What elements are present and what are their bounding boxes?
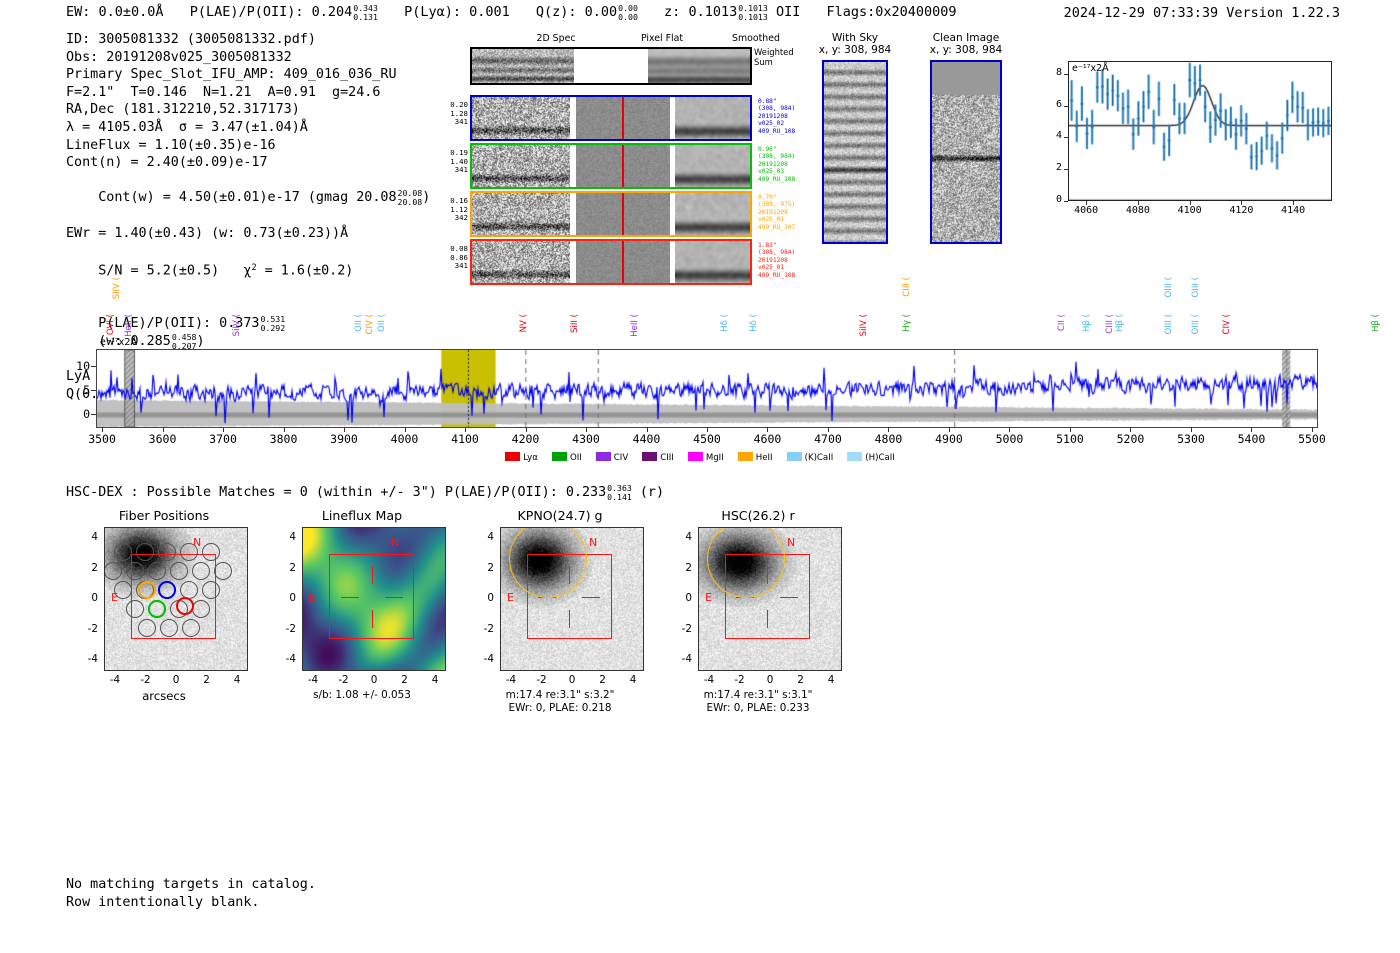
emission-line-label: Hδ ( bbox=[720, 314, 730, 332]
spec2d-metadata-value: 0.96" bbox=[758, 146, 818, 153]
lineflux-map-xtick: -2 bbox=[331, 674, 357, 686]
spec2d-smoothed bbox=[675, 241, 750, 283]
hsc-r-cutout-title: HSC(26.2) r bbox=[660, 508, 856, 523]
with-sky-pixels bbox=[824, 62, 886, 242]
fit-xtick: 4120 bbox=[1221, 205, 1261, 216]
header-plae: P(LAE)/P(OII): 0.2040.3430.131 bbox=[190, 4, 386, 20]
spectrum-xtick-mark bbox=[767, 427, 768, 432]
legend-swatch bbox=[642, 452, 657, 461]
spectrum-xtick-mark bbox=[344, 427, 345, 432]
fit-xtick-mark bbox=[1241, 201, 1242, 205]
lineflux-map-xtick: -4 bbox=[300, 674, 326, 686]
fiber-positions-ytick: -2 bbox=[74, 623, 98, 635]
pixel-flat bbox=[576, 241, 670, 283]
fiber-circle bbox=[180, 543, 198, 561]
legend-label: CIII bbox=[660, 453, 674, 463]
fit-xtick-mark bbox=[1138, 201, 1139, 205]
fit-ytick: 4 bbox=[1038, 130, 1062, 141]
info-cont-n: Cont(n) = 2.40(±0.09)e-17 bbox=[66, 154, 430, 172]
legend-swatch bbox=[505, 452, 520, 461]
emission-line-label: HeII ( bbox=[124, 314, 134, 337]
bottom-note: No matching targets in catalog. Row inte… bbox=[66, 876, 316, 911]
info-id: ID: 3005081332 (3005081332.pdf) bbox=[66, 31, 430, 49]
spec2d-row-metadata: 0.96"(308, 984)20191208v025_03409_RU_108 bbox=[758, 146, 818, 183]
east-marker: E bbox=[309, 591, 316, 604]
hsc-r-cutout-caption-2: EWr: 0, PLAE: 0.233 bbox=[660, 702, 856, 715]
legend-swatch bbox=[552, 452, 567, 461]
pixel-flat-marker-line bbox=[622, 193, 624, 235]
fit-ytick-mark bbox=[1064, 169, 1068, 170]
spectrum-xtick: 5000 bbox=[987, 432, 1031, 446]
legend-swatch bbox=[738, 452, 753, 461]
spectrum-ytick: 0 bbox=[64, 407, 90, 421]
crosshair-segment bbox=[372, 566, 373, 584]
fiber-positions-ytick: 4 bbox=[74, 531, 98, 543]
spec2d-raw bbox=[472, 145, 570, 187]
image-data bbox=[472, 241, 570, 283]
fit-xtick: 4060 bbox=[1066, 205, 1106, 216]
spectrum-xtick-mark bbox=[223, 427, 224, 432]
spec2d-stat-value: 341 bbox=[438, 262, 468, 271]
fiber-positions-ytick: 0 bbox=[74, 592, 98, 604]
spectrum-xtick-mark bbox=[1312, 427, 1313, 432]
header-redshift: z: 0.10130.10130.1013 OII bbox=[664, 4, 808, 20]
kpno-g-cutout-ytick: 0 bbox=[470, 592, 494, 604]
lineflux-map-caption-1: s/b: 1.08 +/- 0.053 bbox=[264, 689, 460, 702]
emission-line-label: OIII ( bbox=[1164, 314, 1174, 334]
emission-line-label: SiIV ( bbox=[112, 277, 122, 299]
image-data bbox=[648, 49, 750, 83]
lineflux-map-ytick: 2 bbox=[272, 562, 296, 574]
spec2d-metadata-value: v025_02 bbox=[758, 120, 818, 127]
fiber-positions-xlabel: arcsecs bbox=[66, 689, 262, 703]
emission-line-label: Hβ ( bbox=[1115, 314, 1125, 332]
emission-line-label: Hβ ( bbox=[1371, 314, 1381, 332]
with-sky-title: With Sky x, y: 308, 984 bbox=[800, 32, 910, 57]
lineflux-map-title: Lineflux Map bbox=[264, 508, 460, 523]
legend-label: CIV bbox=[614, 453, 628, 463]
pixel-flat-marker-line bbox=[622, 97, 624, 139]
header-flags: Flags:0x20400009 bbox=[826, 4, 956, 20]
fiber-positions-xtick: 4 bbox=[224, 674, 250, 686]
spec2d-metadata-value: 409_RU_108 bbox=[758, 128, 818, 135]
fiber-positions-xtick: 2 bbox=[194, 674, 220, 686]
image-data bbox=[472, 145, 570, 187]
spec2d-metadata-value: 20191208 bbox=[758, 113, 818, 120]
fiber-circle bbox=[126, 600, 144, 618]
fiber-positions-xtick: -2 bbox=[133, 674, 159, 686]
fiber-circle bbox=[170, 562, 188, 580]
hsc-r-cutout-xtick: 4 bbox=[818, 674, 844, 686]
timestamp-version: 2024-12-29 07:33:39 Version 1.22.3 bbox=[1064, 5, 1340, 21]
legend-item: OII bbox=[552, 452, 582, 463]
spectrum-xtick-mark bbox=[102, 427, 103, 432]
spectrum-xtick: 4200 bbox=[504, 432, 548, 446]
spectrum-xtick: 4400 bbox=[625, 432, 669, 446]
spectrum-xtick: 5300 bbox=[1169, 432, 1213, 446]
fit-ytick: 0 bbox=[1038, 194, 1062, 205]
legend-swatch bbox=[688, 452, 703, 461]
fit-ytick-mark bbox=[1064, 106, 1068, 107]
spectrum-xtick-mark bbox=[405, 427, 406, 432]
lineflux-map-panel: Lineflux MapNE420-2-4-4-2024s/b: 1.08 +/… bbox=[264, 508, 460, 738]
fiber-circle bbox=[192, 600, 210, 618]
fiber-positions-xtick: 0 bbox=[163, 674, 189, 686]
spec2d-stat-value: 341 bbox=[438, 166, 468, 175]
spec2d-smoothed bbox=[675, 97, 750, 139]
legend-label: OII bbox=[570, 453, 582, 463]
fit-plot-canvas bbox=[1069, 62, 1331, 200]
spec2d-row-stats: 0.080.86341 bbox=[438, 245, 468, 271]
spectrum-xtick: 4300 bbox=[564, 432, 608, 446]
spectrum-xtick: 4000 bbox=[383, 432, 427, 446]
legend-swatch bbox=[847, 452, 862, 461]
weighted-sum-2dspec bbox=[472, 49, 574, 83]
fit-ytick: 6 bbox=[1038, 99, 1062, 110]
fiber-circle bbox=[192, 562, 210, 580]
kpno-g-cutout-xtick: -2 bbox=[529, 674, 555, 686]
kpno-g-cutout-ytick: -4 bbox=[470, 653, 494, 665]
kpno-g-cutout-ytick: 4 bbox=[470, 531, 494, 543]
spectrum-ytick-mark bbox=[91, 390, 96, 391]
lineflux-map-xtick: 0 bbox=[361, 674, 387, 686]
legend-label: (H)CaII bbox=[865, 453, 895, 463]
fit-xtick-mark bbox=[1086, 201, 1087, 205]
info-wavelength: λ = 4105.03Å σ = 3.47(±1.04)Å bbox=[66, 119, 430, 137]
spec2d-row-metadata: 0.88"(308, 984)20191208v025_02409_RU_108 bbox=[758, 98, 818, 135]
image-data bbox=[675, 97, 750, 139]
spec2d-metadata-value: 20191208 bbox=[758, 161, 818, 168]
fit-xtick: 4100 bbox=[1170, 205, 1210, 216]
lineflux-map-ytick: 4 bbox=[272, 531, 296, 543]
bottom-note-line1: No matching targets in catalog. bbox=[66, 876, 316, 894]
kpno-g-cutout-xtick: -4 bbox=[498, 674, 524, 686]
legend-item: (K)CaII bbox=[787, 452, 834, 463]
pixel-flat-marker-line bbox=[622, 241, 624, 283]
crosshair-segment bbox=[780, 597, 798, 598]
pixel-flat bbox=[576, 97, 670, 139]
with-sky-image bbox=[822, 60, 888, 244]
legend-swatch bbox=[596, 452, 611, 461]
info-lineflux: LineFlux = 1.10(±0.35)e-16 bbox=[66, 137, 430, 155]
image-data bbox=[472, 193, 570, 235]
clean-image-pixels bbox=[932, 62, 1000, 242]
spec2d-raw bbox=[472, 241, 570, 283]
spectrum-ytick: 10 bbox=[64, 359, 90, 373]
spectrum-xtick: 5500 bbox=[1290, 432, 1334, 446]
fit-ytick: 2 bbox=[1038, 162, 1062, 173]
kpno-g-cutout-title: KPNO(24.7) g bbox=[462, 508, 658, 523]
fiber-positions-xtick: -4 bbox=[102, 674, 128, 686]
hsc-r-cutout-ytick: -4 bbox=[668, 653, 692, 665]
spec2d-metadata-value: 0.88" bbox=[758, 98, 818, 105]
hsc-r-cutout-caption-1: m:17.4 re:3.1" s:3.1" bbox=[660, 689, 856, 702]
spectrum-xtick: 4500 bbox=[685, 432, 729, 446]
fiber-circle bbox=[114, 581, 132, 599]
spec2d-metadata-value: (308, 984) bbox=[758, 249, 818, 256]
legend-label: MgII bbox=[706, 453, 724, 463]
spectrum-xtick: 3900 bbox=[322, 432, 366, 446]
full-spectrum-plot bbox=[96, 349, 1318, 428]
hsc-dex-summary: HSC-DEX : Possible Matches = 0 (within +… bbox=[66, 484, 664, 501]
weighted-sum-strip bbox=[470, 47, 752, 85]
spectrum-xtick-mark bbox=[465, 427, 466, 432]
fiber-circle bbox=[104, 562, 122, 580]
kpno-g-cutout-ytick: 2 bbox=[470, 562, 494, 574]
hsc-r-cutout-xtick: 0 bbox=[757, 674, 783, 686]
spectrum-xtick-mark bbox=[949, 427, 950, 432]
image-data bbox=[675, 193, 750, 235]
spec2d-row: 0.201.283410.88"(308, 984)20191208v025_0… bbox=[470, 95, 752, 141]
fiber-positions-ytick: 2 bbox=[74, 562, 98, 574]
fiber-circle-selected bbox=[138, 581, 156, 599]
spectrum-xtick-mark bbox=[526, 427, 527, 432]
crosshair-segment bbox=[767, 610, 768, 628]
fiber-circle bbox=[126, 562, 144, 580]
hsc-r-cutout-xtick: 2 bbox=[788, 674, 814, 686]
weighted-sum-label: Weighted Sum bbox=[754, 47, 794, 67]
spec2d-raw bbox=[472, 193, 570, 235]
emission-line-label: CIV ( bbox=[365, 314, 375, 335]
emission-line-label: Hγ ( bbox=[902, 314, 912, 332]
kpno-g-cutout-caption-2: EWr: 0, PLAE: 0.218 bbox=[462, 702, 658, 715]
legend-item: CIV bbox=[596, 452, 628, 463]
spectrum-xtick-mark bbox=[1191, 427, 1192, 432]
fit-ytick: 8 bbox=[1038, 67, 1062, 78]
spectrum-xtick: 4800 bbox=[866, 432, 910, 446]
legend-swatch bbox=[787, 452, 802, 461]
fiber-circle bbox=[202, 581, 220, 599]
spec2d-metadata-value: (308, 975) bbox=[758, 201, 818, 208]
emission-line-label: OII ( bbox=[354, 314, 364, 332]
fiber-positions-image: NE bbox=[104, 527, 248, 671]
fit-ytick-mark bbox=[1064, 201, 1068, 202]
header-ew: EW: 0.0±0.0Å bbox=[66, 4, 164, 20]
spectrum-xtick: 3500 bbox=[80, 432, 124, 446]
info-cont-w: Cont(w) = 4.50(±0.01)e-17 (gmag 20.0820.… bbox=[66, 172, 430, 225]
spectrum-legend: LyαOIICIVCIIIMgIIHeII(K)CaII(H)CaII bbox=[0, 452, 1400, 463]
spectrum-xtick-mark bbox=[1251, 427, 1252, 432]
spectrum-ytick-mark bbox=[91, 366, 96, 367]
spectrum-xtick: 5200 bbox=[1108, 432, 1152, 446]
fiber-circle bbox=[148, 562, 166, 580]
spectrum-xtick: 4600 bbox=[745, 432, 789, 446]
emission-line-label: CIII ( bbox=[1105, 314, 1115, 334]
spectrum-xtick: 4900 bbox=[927, 432, 971, 446]
north-marker: N bbox=[391, 536, 399, 549]
fiber-circle bbox=[160, 619, 178, 637]
spectrum-xtick: 5400 bbox=[1229, 432, 1273, 446]
lineflux-map-xtick: 4 bbox=[422, 674, 448, 686]
weighted-sum-smoothed bbox=[648, 49, 750, 83]
kpno-g-cutout-xtick: 0 bbox=[559, 674, 585, 686]
kpno-g-cutout-caption-1: m:17.4 re:3.1" s:3.2" bbox=[462, 689, 658, 702]
emission-line-label: CIV ( bbox=[1222, 314, 1232, 335]
image-data bbox=[472, 49, 574, 83]
hsc-r-cutout-image: NE bbox=[698, 527, 842, 671]
spec2d-stat-value: 341 bbox=[438, 118, 468, 127]
fiber-circle-selected bbox=[158, 581, 176, 599]
spectrum-xtick: 4100 bbox=[443, 432, 487, 446]
fit-xtick: 4080 bbox=[1118, 205, 1158, 216]
fit-ytick-mark bbox=[1064, 137, 1068, 138]
spec2d-metadata-value: 0.70" bbox=[758, 194, 818, 201]
north-marker: N bbox=[787, 536, 795, 549]
info-ewr: EWr = 1.40(±0.43) (w: 0.73(±0.23))Å bbox=[66, 225, 430, 243]
pixel-flat-marker-line bbox=[622, 145, 624, 187]
emission-line-label: SiIV ( bbox=[232, 314, 242, 336]
info-obs: Obs: 20191208v025_3005081332 bbox=[66, 49, 430, 67]
spectrum-xtick: 3600 bbox=[141, 432, 185, 446]
spec2d-smoothed bbox=[675, 145, 750, 187]
fiber-circle bbox=[138, 619, 156, 637]
kpno-g-cutout-xtick: 4 bbox=[620, 674, 646, 686]
spec2d-metadata-value: (308, 984) bbox=[758, 153, 818, 160]
spectrum-xtick-mark bbox=[163, 427, 164, 432]
image-data bbox=[472, 97, 570, 139]
hsc-r-cutout-ytick: -2 bbox=[668, 623, 692, 635]
fiber-positions-ytick: -4 bbox=[74, 653, 98, 665]
spec2d-row-stats: 0.191.40341 bbox=[438, 149, 468, 175]
kpno-g-cutout-image: NE bbox=[500, 527, 644, 671]
header-summary-line: EW: 0.0±0.0Å P(LAE)/P(OII): 0.2040.3430.… bbox=[66, 4, 975, 21]
emission-line-label: Hδ ( bbox=[749, 314, 759, 332]
crosshair-segment bbox=[569, 610, 570, 628]
bottom-note-line2: Row intentionally blank. bbox=[66, 894, 316, 912]
spec2d-smoothed bbox=[675, 193, 750, 235]
lineflux-map-xtick: 2 bbox=[392, 674, 418, 686]
fiber-circle bbox=[202, 543, 220, 561]
fit-xtick: 4140 bbox=[1273, 205, 1313, 216]
header-plya: P(Lyα): 0.001 bbox=[404, 4, 510, 20]
spectrum-ytick: 5 bbox=[64, 383, 90, 397]
lineflux-map-ytick: 0 bbox=[272, 592, 296, 604]
spec2d-metadata-value: 409_RU_108 bbox=[758, 272, 818, 279]
spectrum-xtick-mark bbox=[1009, 427, 1010, 432]
emission-line-label: HeII ( bbox=[630, 314, 640, 337]
spectrum-ylabel: e⁻¹⁷x2Å bbox=[100, 337, 137, 348]
fit-xtick-mark bbox=[1293, 201, 1294, 205]
emission-line-label: CIII ( bbox=[902, 277, 912, 297]
kpno-g-cutout-panel: KPNO(24.7) gNE420-2-4-4-2024m:17.4 re:3.… bbox=[462, 508, 658, 738]
emission-line-label: OIII ( bbox=[1191, 277, 1201, 297]
kpno-g-cutout-xtick: 2 bbox=[590, 674, 616, 686]
fiber-circle bbox=[182, 619, 200, 637]
spectrum-xtick: 3700 bbox=[201, 432, 245, 446]
image-data bbox=[675, 145, 750, 187]
emission-line-label: OIII ( bbox=[1191, 314, 1201, 334]
spectrum-xtick: 4700 bbox=[806, 432, 850, 446]
legend-label: (K)CaII bbox=[805, 453, 834, 463]
kpno-g-cutout-ytick: -2 bbox=[470, 623, 494, 635]
header-qz: Q(z): 0.000.000.00 bbox=[536, 4, 646, 20]
clean-image-image bbox=[930, 60, 1002, 244]
col-head-smoothed: Smoothed bbox=[696, 33, 816, 44]
spectrum-canvas bbox=[97, 350, 1317, 427]
legend-item: MgII bbox=[688, 452, 724, 463]
pixel-flat bbox=[576, 193, 670, 235]
legend-label: Lyα bbox=[523, 453, 538, 463]
emission-line-label: NV ( bbox=[519, 314, 529, 332]
legend-item: HeII bbox=[738, 452, 773, 463]
crosshair-segment bbox=[341, 597, 359, 598]
spec2d-row-stats: 0.161.12342 bbox=[438, 197, 468, 223]
emission-line-label: Hβ ( bbox=[1082, 314, 1092, 332]
fit-plot-axes bbox=[1068, 61, 1332, 201]
spec2d-row-metadata: 0.70"(308, 975)20191208v025_01409_RU_107 bbox=[758, 194, 818, 231]
spec2d-stat-value: 342 bbox=[438, 214, 468, 223]
fit-xtick-mark bbox=[1190, 201, 1191, 205]
hsc-r-cutout-ytick: 2 bbox=[668, 562, 692, 574]
fiber-circle bbox=[158, 543, 176, 561]
hsc-r-cutout-ytick: 4 bbox=[668, 531, 692, 543]
spec2d-row: 0.191.403410.96"(308, 984)20191208v025_0… bbox=[470, 143, 752, 189]
spectrum-xtick-mark bbox=[888, 427, 889, 432]
spec2d-metadata-value: 409_RU_108 bbox=[758, 176, 818, 183]
clean-image-title: Clean Image x, y: 308, 984 bbox=[906, 32, 1026, 57]
spec2d-metadata-value: 1.83" bbox=[758, 242, 818, 249]
fiber-positions-title: Fiber Positions bbox=[66, 508, 262, 523]
crosshair-segment bbox=[372, 610, 373, 628]
spec2d-metadata-value: v025_03 bbox=[758, 168, 818, 175]
emission-line-label: SiII ( bbox=[570, 314, 580, 333]
spectrum-xtick-mark bbox=[1130, 427, 1131, 432]
lineflux-map-ytick: -2 bbox=[272, 623, 296, 635]
info-radec: RA,Dec (181.312210,52.317173) bbox=[66, 101, 430, 119]
spec2d-row: 0.080.863411.83"(308, 984)20191208v025_0… bbox=[470, 239, 752, 285]
crosshair-segment bbox=[385, 597, 403, 598]
fiber-circle-selected bbox=[176, 597, 194, 615]
spectrum-xtick: 5100 bbox=[1048, 432, 1092, 446]
spectrum-ytick-mark bbox=[91, 414, 96, 415]
fit-plot-ylabel: e⁻¹⁷x2Å bbox=[1072, 63, 1109, 74]
fiber-circle bbox=[136, 543, 154, 561]
fiber-circle bbox=[114, 543, 132, 561]
legend-item: Lyα bbox=[505, 452, 538, 463]
spectrum-xtick: 3800 bbox=[262, 432, 306, 446]
east-marker: E bbox=[507, 591, 514, 604]
spec2d-raw bbox=[472, 97, 570, 139]
spec2d-row-stats: 0.201.28341 bbox=[438, 101, 468, 127]
emission-line-fit-plot: e⁻¹⁷x2Å 02468 40604080410041204140 bbox=[1038, 55, 1334, 230]
hsc-r-cutout-xtick: -4 bbox=[696, 674, 722, 686]
spec2d-row: 0.161.123420.70"(308, 975)20191208v025_0… bbox=[470, 191, 752, 237]
hsc-r-cutout-panel: HSC(26.2) rNE420-2-4-4-2024m:17.4 re:3.1… bbox=[660, 508, 856, 738]
col-head-2d-spec: 2D Spec bbox=[496, 33, 616, 44]
fiber-circle-selected bbox=[148, 600, 166, 618]
hsc-r-cutout-xtick: -2 bbox=[727, 674, 753, 686]
spectrum-xtick-mark bbox=[647, 427, 648, 432]
legend-item: (H)CaII bbox=[847, 452, 895, 463]
emission-line-label: CII ( bbox=[1057, 314, 1067, 331]
emission-line-label: OVI ( bbox=[106, 314, 116, 335]
crosshair-segment bbox=[582, 597, 600, 598]
spec2d-metadata-value: 20191208 bbox=[758, 209, 818, 216]
legend-label: HeII bbox=[756, 453, 773, 463]
spec2d-row-metadata: 1.83"(308, 984)20191208v025_01409_RU_108 bbox=[758, 242, 818, 279]
info-seeing: F=2.1" T=0.146 N=1.21 A=0.91 g=24.6 bbox=[66, 84, 430, 102]
legend-item: CIII bbox=[642, 452, 674, 463]
spec2d-metadata-value: 20191208 bbox=[758, 257, 818, 264]
spectrum-xtick-mark bbox=[1070, 427, 1071, 432]
spectrum-xtick-mark bbox=[707, 427, 708, 432]
spectrum-xtick-mark bbox=[828, 427, 829, 432]
pixel-flat bbox=[576, 145, 670, 187]
fiber-positions-panel: Fiber PositionsNE420-2-4-4-2024arcsecs bbox=[66, 508, 262, 738]
spec2d-metadata-value: v025_01 bbox=[758, 264, 818, 271]
spec2d-metadata-value: 409_RU_107 bbox=[758, 224, 818, 231]
fiber-circle bbox=[214, 562, 232, 580]
